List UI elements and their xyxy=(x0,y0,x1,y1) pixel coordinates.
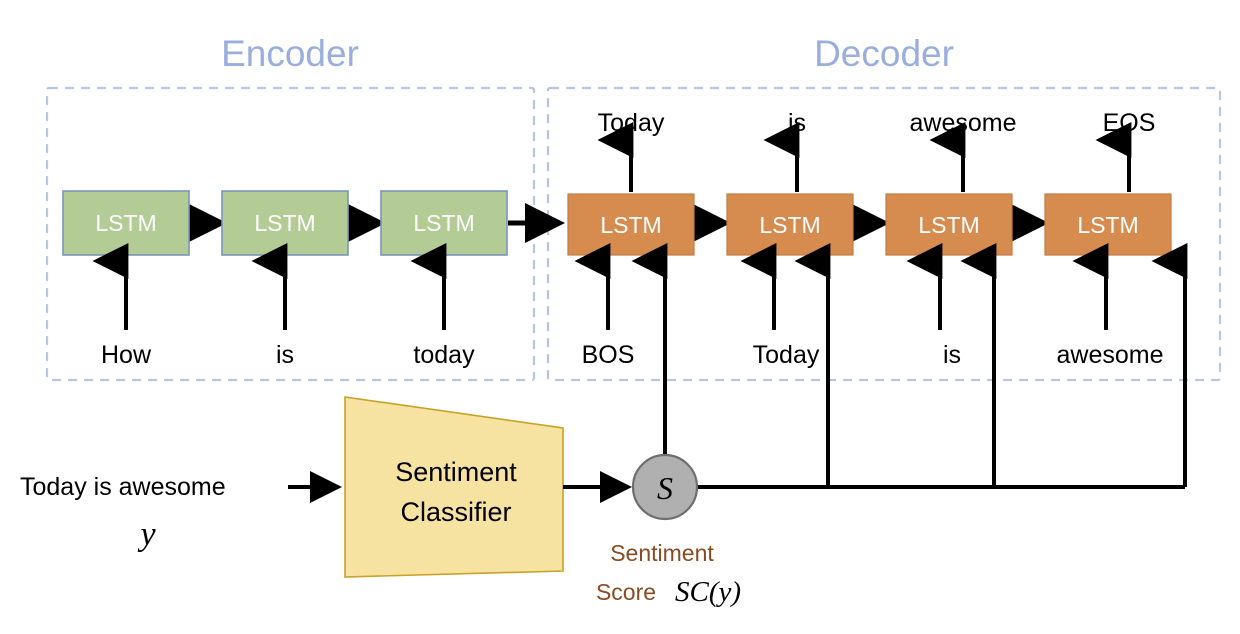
sentiment-score-caption-line1: Sentiment xyxy=(610,540,714,566)
sentiment-score-caption-math: SC(y) xyxy=(675,576,741,608)
sentiment-score-symbol: S xyxy=(657,470,673,506)
classifier-input-text: Today is awesome xyxy=(20,473,226,501)
decoder-cell-2-label: LSTM xyxy=(918,212,979,238)
decoder-output-word-1: is xyxy=(788,109,806,137)
encoder-cell-0-label: LSTM xyxy=(95,210,156,236)
decoder-cell-1[interactable]: LSTM xyxy=(727,194,853,255)
decoder-cell-2[interactable]: LSTM xyxy=(886,194,1012,255)
decoder-cell-3[interactable]: LSTM xyxy=(1045,194,1171,255)
encoder-input-word-0: How xyxy=(101,341,152,369)
encoder-input-word-1: is xyxy=(276,341,294,369)
decoder-input-word-3: awesome xyxy=(1057,341,1164,369)
decoder-cell-0-label: LSTM xyxy=(600,212,661,238)
encoder-cell-2-label: LSTM xyxy=(413,210,474,236)
decoder-input-word-1: Today xyxy=(753,341,820,369)
encoder-cell-1[interactable]: LSTM xyxy=(222,191,348,255)
decoder-output-word-3: EOS xyxy=(1103,109,1156,137)
decoder-output-word-0: Today xyxy=(598,109,665,137)
encoder-cell-0[interactable]: LSTM xyxy=(63,191,189,255)
encoder-cell-1-label: LSTM xyxy=(254,210,315,236)
encoder-group-title: Encoder xyxy=(221,33,359,74)
decoder-cell-0[interactable]: LSTM xyxy=(568,194,694,255)
decoder-input-word-0: BOS xyxy=(582,341,635,369)
decoder-group-title: Decoder xyxy=(814,33,954,74)
encoder-input-word-2: today xyxy=(413,341,475,369)
sentiment-score-caption-line2: Score xyxy=(596,579,656,605)
encoder-cell-2[interactable]: LSTM xyxy=(381,191,507,255)
sentiment-classifier-shape[interactable] xyxy=(345,397,563,577)
decoder-input-word-2: is xyxy=(943,341,961,369)
classifier-input-symbol: y xyxy=(137,516,156,553)
diagram-canvas: Encoder Decoder LSTM LSTM LSTM How is to… xyxy=(0,0,1240,634)
decoder-cell-3-label: LSTM xyxy=(1077,212,1138,238)
diagram-svg: Encoder Decoder LSTM LSTM LSTM How is to… xyxy=(0,0,1240,634)
sentiment-classifier-label-line1: Sentiment xyxy=(395,457,517,487)
decoder-output-word-2: awesome xyxy=(910,109,1017,137)
sentiment-classifier-label-line2: Classifier xyxy=(400,497,511,527)
decoder-cell-1-label: LSTM xyxy=(759,212,820,238)
